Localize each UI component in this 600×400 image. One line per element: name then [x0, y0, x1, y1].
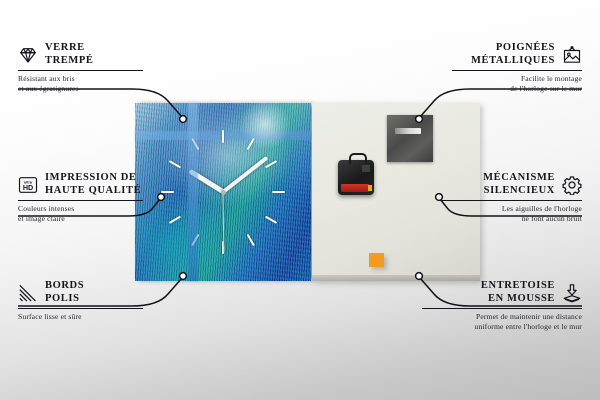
callout-subtitle: Résistant aux bris et aux égratignures [18, 74, 143, 93]
callout-rule [18, 200, 143, 201]
clock-dial [135, 103, 311, 281]
product-photo [135, 103, 480, 281]
callout-title: BORDS POLIS [45, 280, 84, 305]
ultra-hd-icon: ultra HD [18, 175, 38, 195]
callout-title: VERRE TREMPÉ [45, 42, 94, 67]
callout-poignees-metalliques[interactable]: POIGNÉES MÉTALLIQUES Facilite le montage… [452, 42, 582, 93]
callout-entretoise-en-mousse[interactable]: ENTRETOISE EN MOUSSE Permet de maintenir… [422, 280, 582, 331]
callout-bords-polis[interactable]: BORDS POLIS Surface lisse et sûre [18, 280, 143, 322]
callout-rule [442, 200, 582, 201]
callout-verre-trempe[interactable]: VERRE TREMPÉ Résistant aux bris et aux é… [18, 42, 143, 93]
callout-rule [422, 308, 582, 309]
callout-subtitle: Surface lisse et sûre [18, 312, 143, 322]
callout-mecanisme-silencieux[interactable]: MÉCANISME SILENCIEUX Les aiguilles de l'… [442, 172, 582, 223]
metal-hanger-plate [387, 115, 433, 162]
callout-subtitle: Les aiguilles de l'horloge ne font aucun… [442, 204, 582, 223]
callout-rule [18, 70, 143, 71]
clock-minute-hand [222, 156, 269, 194]
callout-rule [18, 308, 143, 309]
callout-rule [452, 70, 582, 71]
svg-text:HD: HD [23, 184, 33, 192]
battery [341, 184, 369, 192]
gear-icon [562, 175, 582, 195]
callout-title: POIGNÉES MÉTALLIQUES [471, 42, 555, 67]
polished-edge-icon [18, 283, 38, 303]
clock-center-cap [221, 190, 226, 195]
callout-title: ENTRETOISE EN MOUSSE [481, 280, 555, 305]
callout-subtitle: Couleurs intenses et image claire [18, 204, 143, 223]
foam-spacer-square [369, 253, 384, 267]
diamond-icon [18, 45, 38, 65]
mechanism-chip [362, 165, 370, 172]
callout-subtitle: Permet de maintenir une distance uniform… [422, 312, 582, 331]
foam-spacer-icon [562, 283, 582, 303]
quartz-mechanism-box [338, 160, 374, 195]
callout-impression-haute-qualite[interactable]: ultra HD IMPRESSION DE HAUTE QUALITÉ Cou… [18, 172, 143, 223]
callout-title: IMPRESSION DE HAUTE QUALITÉ [45, 172, 141, 197]
callout-subtitle: Facilite le montage de l'horloge sur le … [452, 74, 582, 93]
clock-second-hand [222, 192, 224, 252]
callout-title: MÉCANISME SILENCIEUX [483, 172, 555, 197]
picture-hanger-icon [562, 45, 582, 65]
hanger-loop-icon [349, 153, 367, 164]
infographic-canvas: VERRE TREMPÉ Résistant aux bris et aux é… [0, 0, 600, 400]
clock-front-panel [135, 103, 311, 281]
